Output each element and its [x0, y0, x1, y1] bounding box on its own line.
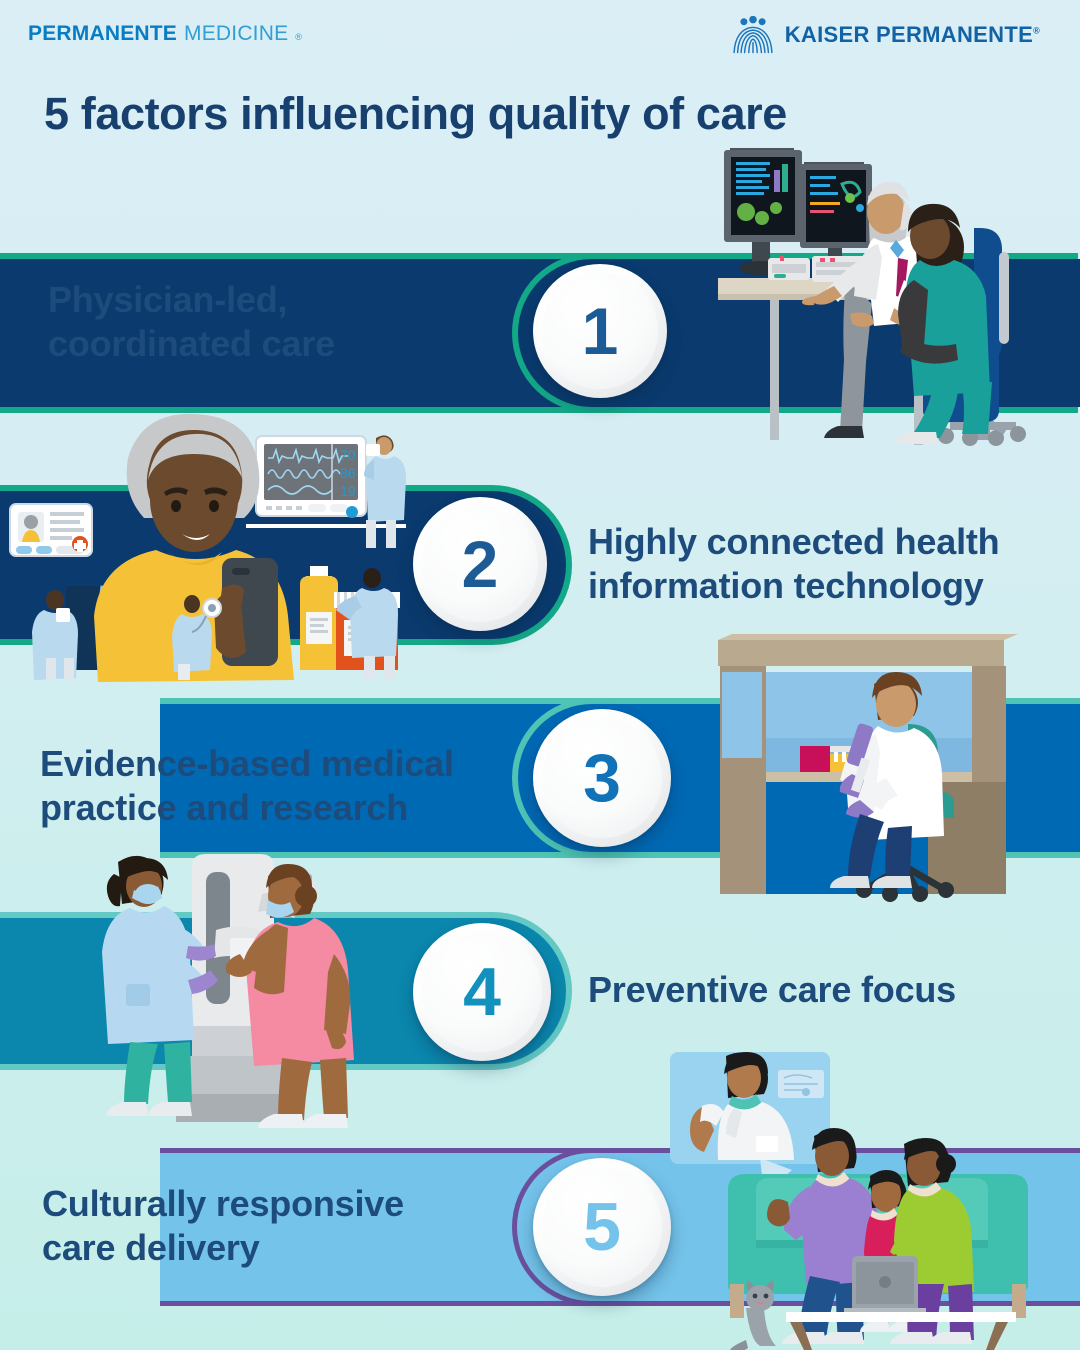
infographic-canvas: PERMANENTE MEDICINE ® KAISER PERMANENTE®…: [0, 0, 1080, 1350]
monitor-reading-3: 19: [340, 483, 356, 499]
factor-2-number-badge: 2: [413, 497, 547, 631]
monitor-reading-1: 70: [340, 447, 356, 463]
factor-5-label: Culturally responsive care delivery: [42, 1182, 404, 1270]
kaiser-permanente-wordmark: KAISER PERMANENTE®: [785, 22, 1040, 48]
telehealth-family-illustration: [660, 1040, 1080, 1350]
laboratory-research-illustration: [700, 628, 1040, 900]
permanente-wordmark: PERMANENTE: [28, 22, 177, 46]
page-title: 5 factors influencing quality of care: [44, 88, 787, 140]
physicians-dual-monitor-illustration: [718, 140, 1080, 445]
kaiser-permanente-logo: KAISER PERMANENTE®: [732, 16, 1040, 54]
factor-4-label: Preventive care focus: [588, 968, 956, 1012]
factor-3-number-badge: 3: [533, 709, 671, 847]
connected-health-it-illustration: 70 86 19: [0, 408, 440, 680]
thrive-logo-icon: [732, 16, 774, 54]
registered-mark-icon: ®: [295, 32, 302, 42]
factor-1-number-badge: 1: [533, 264, 667, 398]
permanente-medicine-logo: PERMANENTE MEDICINE ®: [28, 22, 302, 46]
factor-1-label: Physician-led, coordinated care: [48, 278, 335, 366]
factor-4-number-badge: 4: [413, 923, 551, 1061]
factor-2-label: Highly connected health information tech…: [588, 520, 999, 608]
factor-5-number-badge: 5: [533, 1158, 671, 1296]
factor-3-label: Evidence-based medical practice and rese…: [40, 742, 454, 830]
medicine-wordmark: MEDICINE: [184, 22, 288, 46]
monitor-reading-2: 86: [340, 465, 356, 481]
mammogram-screening-illustration: [88, 838, 384, 1130]
